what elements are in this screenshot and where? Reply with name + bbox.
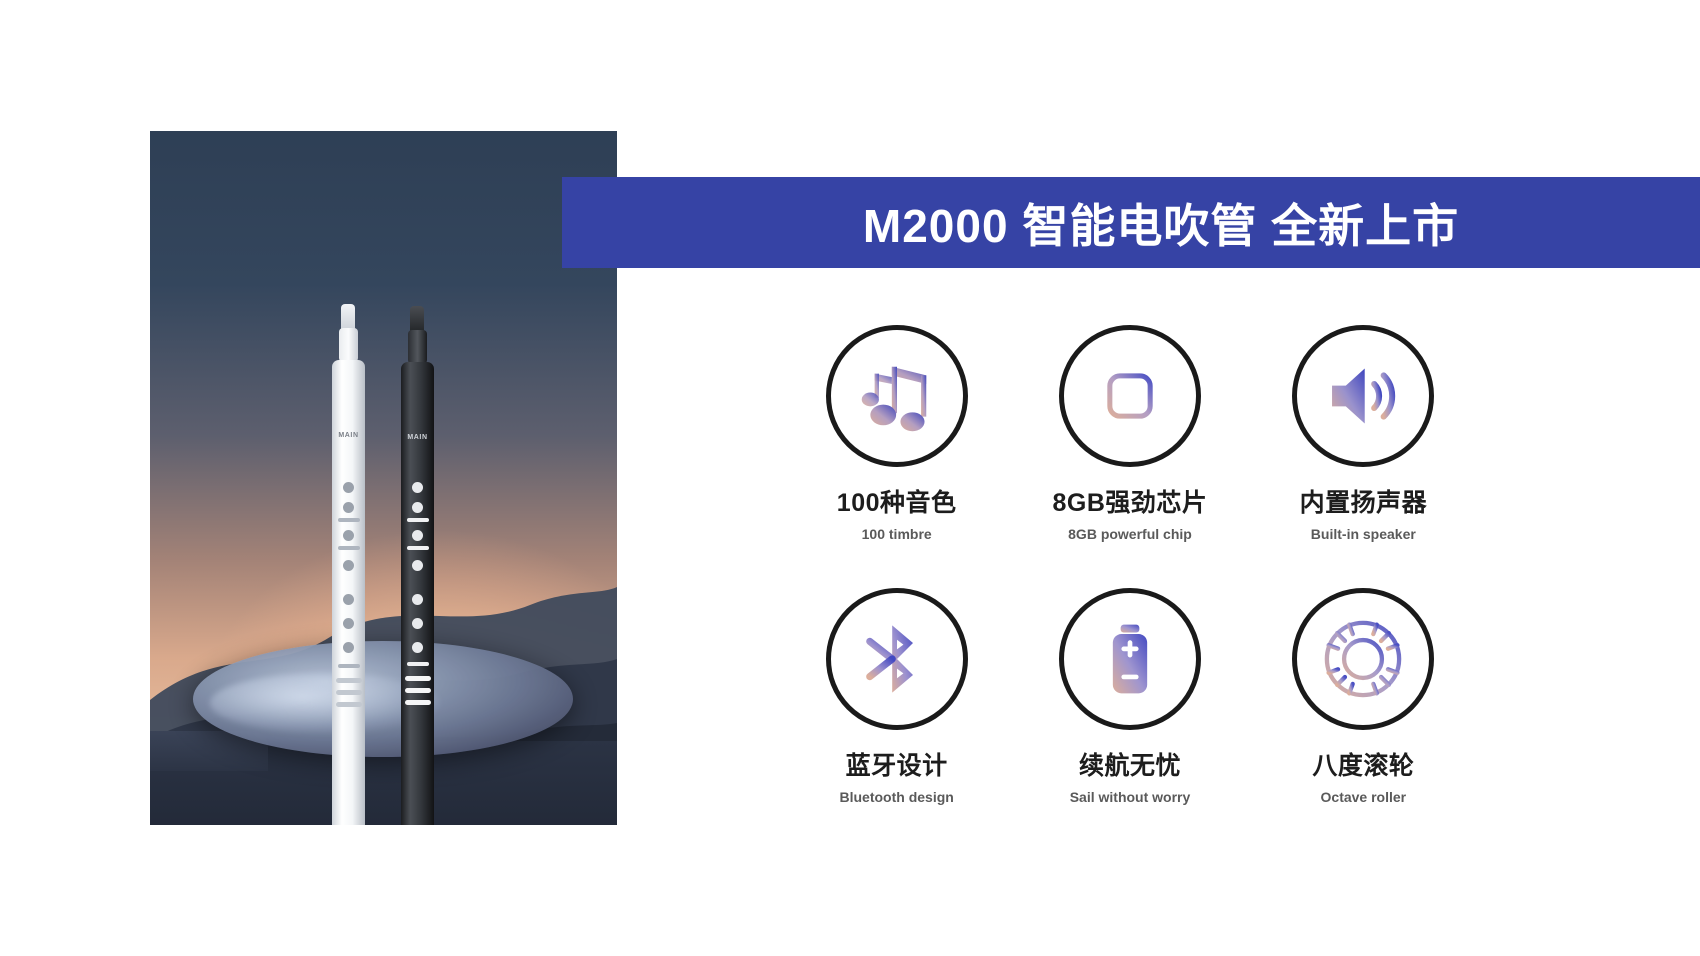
feature-icon-circle: [1059, 325, 1201, 467]
instrument-black: MAIN: [395, 306, 441, 825]
feature-grid: 100种音色 100 timbre: [780, 325, 1480, 805]
feature-title-en: Bluetooth design: [840, 789, 954, 805]
feature-item-speaker: 内置扬声器 Built-in speaker: [1247, 325, 1480, 542]
feature-title-en: 8GB powerful chip: [1068, 526, 1192, 542]
feature-icon-circle: [826, 325, 968, 467]
feature-icon-circle: [1292, 325, 1434, 467]
feature-title-en: Built-in speaker: [1311, 526, 1416, 542]
feature-icon-circle: [1059, 588, 1201, 730]
feature-title-en: 100 timbre: [862, 526, 932, 542]
music-note-icon: [854, 353, 940, 439]
chip-icon: [1088, 354, 1172, 438]
feature-title-cn: 内置扬声器: [1300, 483, 1428, 519]
octave-roller-icon: [1320, 616, 1406, 702]
feature-item-timbre: 100种音色 100 timbre: [780, 325, 1013, 542]
feature-title-cn: 8GB强劲芯片: [1053, 483, 1208, 519]
product-photo: MAIN MAIN: [150, 131, 617, 825]
page-title: M2000 智能电吹管 全新上市: [803, 190, 1459, 256]
product-banner: MAIN MAIN: [0, 0, 1700, 956]
feature-title-cn: 100种音色: [837, 483, 957, 519]
feature-title-cn: 蓝牙设计: [846, 746, 948, 782]
feature-icon-circle: [826, 588, 968, 730]
bluetooth-icon: [857, 619, 937, 699]
feature-item-bluetooth: 蓝牙设计 Bluetooth design: [780, 588, 1013, 805]
brand-mark-white: MAIN: [332, 432, 365, 439]
feature-title-cn: 续航无忧: [1079, 746, 1181, 782]
feature-item-battery: 续航无忧 Sail without worry: [1013, 588, 1246, 805]
feature-title-cn: 八度滚轮: [1312, 746, 1414, 782]
feature-title-en: Sail without worry: [1070, 789, 1191, 805]
battery-icon: [1091, 620, 1169, 698]
feature-title-en: Octave roller: [1321, 789, 1407, 805]
feature-icon-circle: [1292, 588, 1434, 730]
brand-mark-black: MAIN: [401, 434, 434, 441]
instrument-white: MAIN: [326, 304, 372, 825]
headline-banner: M2000 智能电吹管 全新上市: [562, 177, 1700, 268]
speaker-icon: [1320, 353, 1406, 439]
feature-item-chip: 8GB强劲芯片 8GB powerful chip: [1013, 325, 1246, 542]
feature-item-octave-roller: 八度滚轮 Octave roller: [1247, 588, 1480, 805]
